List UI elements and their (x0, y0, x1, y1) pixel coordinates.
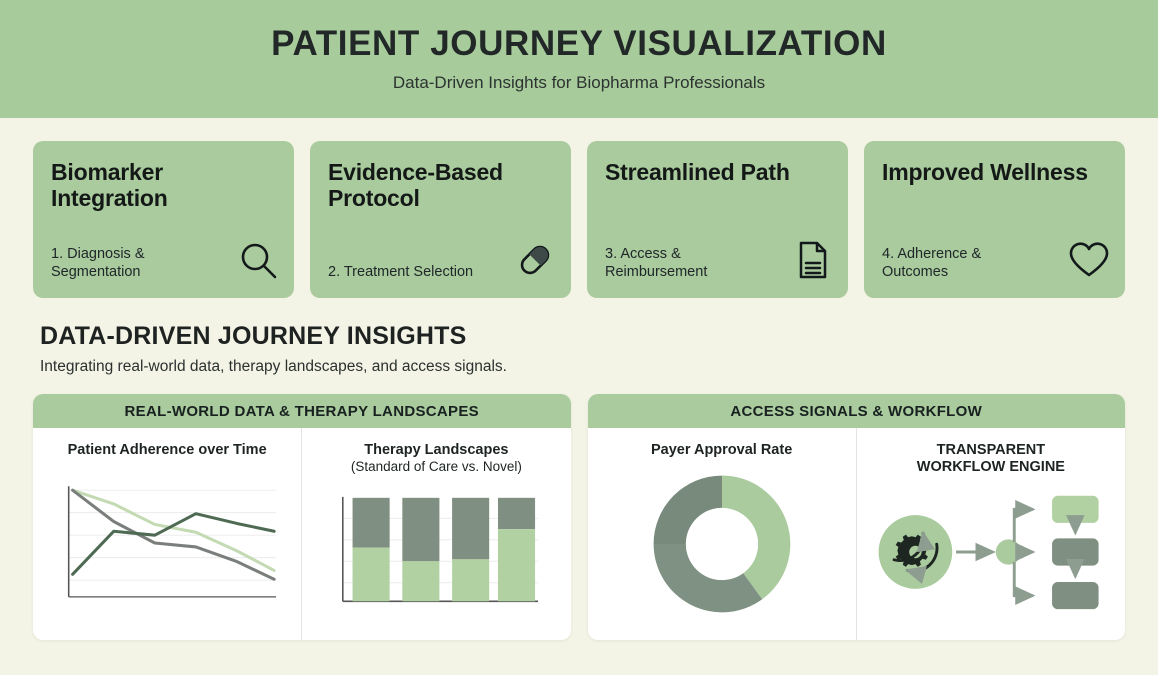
card-title: Streamlined Path (605, 160, 825, 186)
panel-real-world-data: REAL-WORLD DATA & THERAPY LANDSCAPES Pat… (33, 394, 571, 640)
diagram-block-workflow-engine: TRANSPARENT WORKFLOW ENGINE (856, 428, 1125, 640)
panel-header-right: ACCESS SIGNALS & WORKFLOW (588, 394, 1126, 428)
bar-group-2 (403, 498, 440, 601)
feature-card-evidence-based-protocol[interactable]: Evidence-Based Protocol 2. Treatment Sel… (310, 141, 571, 298)
workflow-diagram-svg (874, 489, 1108, 615)
bar-chart-svg (330, 491, 542, 613)
page-root: PATIENT JOURNEY VISUALIZATION Data-Drive… (0, 0, 1158, 675)
feature-card-improved-wellness[interactable]: Improved Wellness 4. Adherence & Outcome… (864, 141, 1125, 298)
card-title: Evidence-Based Protocol (328, 160, 548, 212)
card-subtitle: 4. Adherence & Outcomes (882, 245, 1032, 282)
card-title: Biomarker Integration (51, 160, 271, 212)
card-footer: 4. Adherence & Outcomes (882, 238, 1111, 282)
chart-block-therapy-landscapes: Therapy Landscapes (Standard of Care vs.… (301, 428, 570, 640)
chart-block-payer-approval: Payer Approval Rate (588, 428, 856, 640)
diagram-title-line1: TRANSPARENT (937, 442, 1045, 458)
document-icon (790, 238, 834, 282)
panel-body-right: Payer Approval Rate (588, 428, 1126, 640)
donut-chart-payer-approval (598, 459, 846, 628)
feature-card-row: Biomarker Integration 1. Diagnosis & Seg… (0, 118, 1158, 298)
chart-title-therapy: Therapy Landscapes (Standard of Care vs.… (351, 442, 522, 476)
workflow-step-2[interactable] (1052, 539, 1099, 566)
page-subtitle: Data-Driven Insights for Biopharma Profe… (393, 73, 765, 93)
donut-segments (653, 475, 790, 612)
line-chart-patient-adherence (43, 459, 291, 628)
feature-card-biomarker-integration[interactable]: Biomarker Integration 1. Diagnosis & Seg… (33, 141, 294, 298)
workflow-step-3[interactable] (1052, 582, 1099, 609)
page-title: PATIENT JOURNEY VISUALIZATION (271, 25, 887, 64)
card-subtitle: 3. Access & Reimbursement (605, 245, 755, 282)
bar-chart-therapy-landscapes (312, 476, 560, 628)
card-title: Improved Wellness (882, 160, 1102, 186)
workflow-engine-diagram (867, 477, 1115, 628)
section-heading-block: DATA-DRIVEN JOURNEY INSIGHTS Integrating… (0, 298, 1158, 376)
hub-node (996, 540, 1021, 565)
bar-group-1 (353, 498, 390, 601)
chart-title-adherence: Patient Adherence over Time (68, 442, 267, 459)
line-chart-svg (55, 480, 280, 608)
chart-block-patient-adherence: Patient Adherence over Time (33, 428, 301, 640)
series-cohort-a (72, 490, 274, 570)
panel-row: REAL-WORLD DATA & THERAPY LANDSCAPES Pat… (0, 376, 1158, 640)
section-title: DATA-DRIVEN JOURNEY INSIGHTS (40, 322, 1158, 351)
panel-body-left: Patient Adherence over Time (33, 428, 571, 640)
chart-title-therapy-sub: (Standard of Care vs. Novel) (351, 459, 522, 475)
workflow-step-1[interactable] (1052, 496, 1099, 523)
donut-chart-svg (646, 468, 798, 620)
panel-access-signals: ACCESS SIGNALS & WORKFLOW Payer Approval… (588, 394, 1126, 640)
panel-header-left: REAL-WORLD DATA & THERAPY LANDSCAPES (33, 394, 571, 428)
pill-icon (513, 238, 557, 282)
card-footer: 3. Access & Reimbursement (605, 238, 834, 282)
diagram-title-workflow-engine: TRANSPARENT WORKFLOW ENGINE (917, 442, 1065, 477)
bar-group-3 (452, 498, 489, 601)
section-description: Integrating real-world data, therapy lan… (40, 358, 1158, 376)
search-icon (236, 238, 280, 282)
heart-icon (1067, 238, 1111, 282)
chart-title-payer-approval: Payer Approval Rate (651, 442, 792, 459)
page-header: PATIENT JOURNEY VISUALIZATION Data-Drive… (0, 0, 1158, 118)
card-footer: 2. Treatment Selection (328, 238, 557, 282)
feature-card-streamlined-path[interactable]: Streamlined Path 3. Access & Reimburseme… (587, 141, 848, 298)
bar-group-4 (498, 498, 535, 601)
diagram-title-line2: WORKFLOW ENGINE (917, 459, 1065, 475)
chart-title-therapy-main: Therapy Landscapes (364, 442, 508, 458)
card-footer: 1. Diagnosis & Segmentation (51, 238, 280, 282)
card-subtitle: 2. Treatment Selection (328, 263, 473, 282)
card-subtitle: 1. Diagnosis & Segmentation (51, 245, 201, 282)
donut-hole (686, 508, 758, 580)
